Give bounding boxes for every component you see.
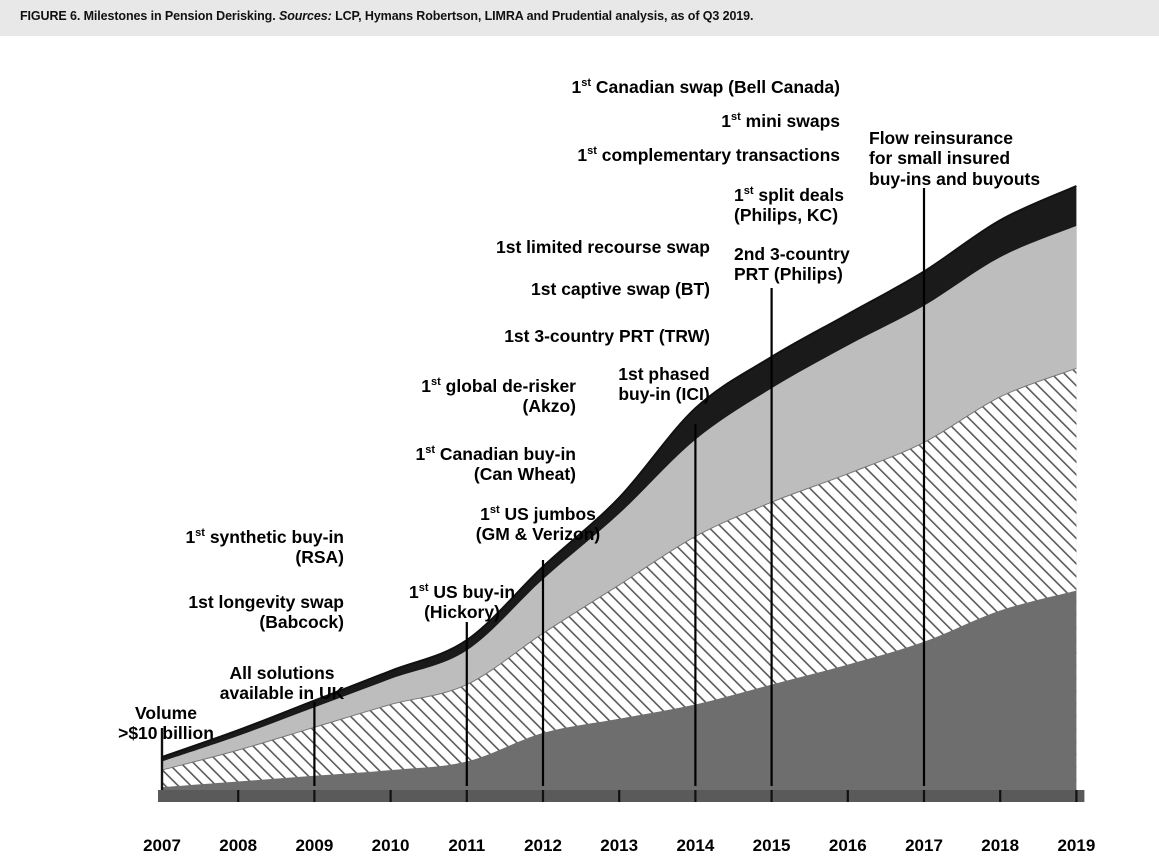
annotation-limited-recourse-swap: 1st limited recourse swap (420, 237, 710, 257)
annotation-line: available in UK (206, 683, 358, 703)
annotation-line: 1st US jumbos (448, 504, 628, 524)
x-tick-label-2018: 2018 (965, 836, 1035, 856)
x-tick-label-2012: 2012 (508, 836, 578, 856)
annotation-line: 1st phased (600, 364, 728, 384)
annotation-line: 1st synthetic buy-in (124, 527, 344, 547)
annotation-line: (Babcock) (124, 612, 344, 632)
x-axis-bar (158, 790, 1084, 802)
annotation-line: 1st captive swap (BT) (420, 279, 710, 299)
annotation-line: (Akzo) (340, 396, 576, 416)
sources-label: Sources: (279, 9, 332, 23)
x-tick-label-2011: 2011 (432, 836, 502, 856)
annotation-second-three-country-prt-philips: 2nd 3-countryPRT (Philips) (734, 244, 874, 285)
annotation-longevity-swap-babcock: 1st longevity swap(Babcock) (124, 592, 344, 633)
annotation-line: >$10 billion (107, 723, 225, 743)
annotation-volume-10-billion: Volume>$10 billion (107, 703, 225, 744)
annotation-canadian-buy-in-can-wheat: 1st Canadian buy-in(Can Wheat) (340, 444, 576, 485)
annotation-captive-swap-bt: 1st captive swap (BT) (420, 279, 710, 299)
x-tick-label-2009: 2009 (279, 836, 349, 856)
x-tick-label-2017: 2017 (889, 836, 959, 856)
annotation-line: 2nd 3-country (734, 244, 874, 264)
annotation-line: Flow reinsurance (869, 128, 1049, 148)
annotation-flow-reinsurance: Flow reinsurancefor small insuredbuy-ins… (869, 128, 1049, 189)
annotation-line: for small insured (869, 148, 1049, 168)
x-tick-label-2014: 2014 (660, 836, 730, 856)
figure-title: Milestones in Pension Derisking. (84, 9, 276, 23)
x-tick-label-2015: 2015 (737, 836, 807, 856)
annotation-line: buy-ins and buyouts (869, 169, 1049, 189)
annotation-canadian-swap-bell-canada: 1st Canadian swap (Bell Canada) (520, 77, 840, 97)
figure-caption: FIGURE 6. Milestones in Pension Deriskin… (20, 9, 753, 23)
annotation-us-buy-in-hickory: 1st US buy-in(Hickory) (386, 582, 538, 623)
figure-number: FIGURE 6. (20, 9, 80, 23)
annotation-line: 1st longevity swap (124, 592, 344, 612)
annotation-line: (Hickory) (386, 602, 538, 622)
figure-header-bar: FIGURE 6. Milestones in Pension Deriskin… (0, 0, 1159, 36)
sources-text: LCP, Hymans Robertson, LIMRA and Prudent… (335, 9, 753, 23)
annotation-line: 1st global de-risker (340, 376, 576, 396)
annotation-line: 1st 3-country PRT (TRW) (420, 326, 710, 346)
annotation-all-solutions-uk: All solutionsavailable in UK (206, 663, 358, 704)
annotation-line: (Philips, KC) (734, 205, 874, 225)
annotation-line: 1st Canadian swap (Bell Canada) (520, 77, 840, 97)
x-tick-label-2019: 2019 (1041, 836, 1111, 856)
chart-area: Volume>$10 billionAll solutionsavailable… (0, 36, 1159, 833)
annotation-line: 1st limited recourse swap (420, 237, 710, 257)
x-tick-label-2016: 2016 (813, 836, 883, 856)
annotation-line: 1st split deals (734, 185, 874, 205)
annotation-line: 1st complementary transactions (520, 145, 840, 165)
annotation-line: All solutions (206, 663, 358, 683)
x-tick-label-2008: 2008 (203, 836, 273, 856)
annotation-line: (Can Wheat) (340, 464, 576, 484)
annotation-mini-swaps: 1st mini swaps (520, 111, 840, 131)
annotation-phased-buy-in-ici: 1st phasedbuy-in (ICI) (600, 364, 728, 405)
annotation-line: 1st US buy-in (386, 582, 538, 602)
x-tick-label-2013: 2013 (584, 836, 654, 856)
annotation-line: 1st Canadian buy-in (340, 444, 576, 464)
annotation-line: (GM & Verizon) (448, 524, 628, 544)
annotation-line: (RSA) (124, 547, 344, 567)
annotation-line: buy-in (ICI) (600, 384, 728, 404)
annotation-line: PRT (Philips) (734, 264, 874, 284)
annotation-synthetic-buy-in-rsa: 1st synthetic buy-in(RSA) (124, 527, 344, 568)
annotation-line: 1st mini swaps (520, 111, 840, 131)
annotation-global-de-risker-akzo: 1st global de-risker(Akzo) (340, 376, 576, 417)
annotation-three-country-prt-trw: 1st 3-country PRT (TRW) (420, 326, 710, 346)
annotation-split-deals-philips-kc: 1st split deals(Philips, KC) (734, 185, 874, 226)
x-tick-label-2007: 2007 (127, 836, 197, 856)
annotation-us-jumbos-gm-verizon: 1st US jumbos(GM & Verizon) (448, 504, 628, 545)
x-tick-label-2010: 2010 (356, 836, 426, 856)
annotation-line: Volume (107, 703, 225, 723)
annotation-complementary-transactions: 1st complementary transactions (520, 145, 840, 165)
